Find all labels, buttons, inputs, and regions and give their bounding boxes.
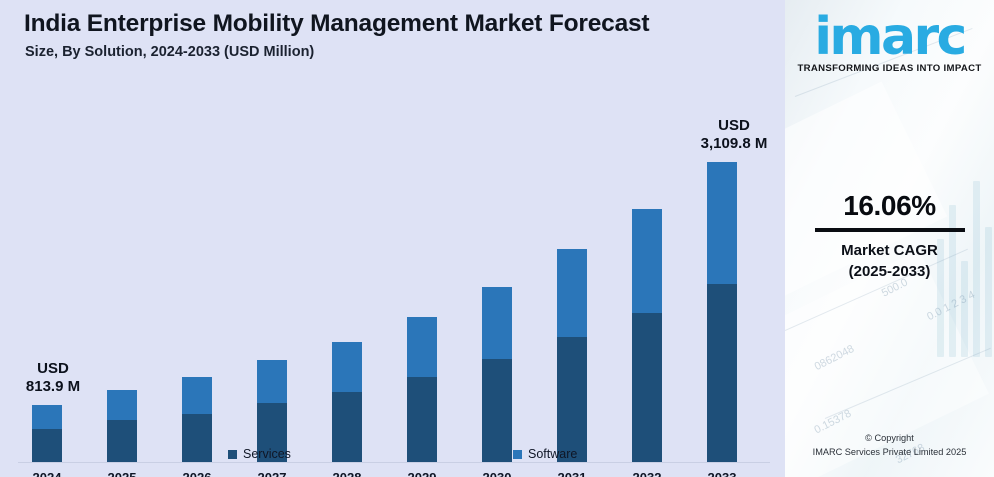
bar-segment-services-2033[interactable] (707, 284, 737, 462)
x-label-2032: 2032 (618, 470, 676, 477)
bar-segment-software-2030[interactable] (482, 287, 512, 359)
bar-segment-software-2029[interactable] (407, 317, 437, 377)
value-callout-first: USD 813.9 M (6, 360, 100, 395)
legend-label-software: Software (528, 447, 577, 461)
x-label-2024: 2024 (18, 470, 76, 477)
bar-segment-services-2031[interactable] (557, 337, 587, 462)
cagr-period: (2025-2033) (785, 261, 994, 282)
bar-segment-software-2032[interactable] (632, 209, 662, 313)
cagr-divider (815, 228, 965, 232)
x-label-2025: 2025 (93, 470, 151, 477)
legend-item-software[interactable]: Software (513, 447, 577, 461)
callout-last-line1: USD (684, 117, 784, 135)
bar-segment-software-2031[interactable] (557, 249, 587, 337)
plot-area: 2024202520262027202820292030203120322033… (0, 62, 785, 402)
value-callout-last: USD 3,109.8 M (684, 117, 784, 152)
brand-panel: 500.0 0.0 1 2 3 4 0862048 0.15378 32768 … (785, 0, 994, 477)
page-subtitle: Size, By Solution, 2024-2033 (USD Millio… (25, 44, 314, 60)
bar-2033[interactable] (707, 162, 737, 462)
bar-segment-software-2026[interactable] (182, 377, 212, 414)
legend-item-services[interactable]: Services (228, 447, 291, 461)
bar-segment-software-2028[interactable] (332, 342, 362, 392)
bar-2030[interactable] (482, 287, 512, 462)
bar-2029[interactable] (407, 317, 437, 462)
copyright-block: © Copyright IMARC Services Private Limit… (785, 431, 994, 460)
legend-swatch-software-icon (513, 450, 522, 459)
x-label-2033: 2033 (693, 470, 751, 477)
bar-segment-software-2033[interactable] (707, 162, 737, 284)
imarc-wordmark: imarc (814, 14, 965, 62)
callout-last-line2: 3,109.8 M (684, 135, 784, 153)
bar-segment-software-2027[interactable] (257, 360, 287, 403)
legend-label-services: Services (243, 447, 291, 461)
cagr-label: Market CAGR (785, 240, 994, 261)
chart-legend: Services Software (0, 445, 785, 469)
chart-panel: India Enterprise Mobility Management Mar… (0, 0, 785, 477)
x-label-2031: 2031 (543, 470, 601, 477)
x-label-2027: 2027 (243, 470, 301, 477)
bar-segment-software-2025[interactable] (107, 390, 137, 420)
bar-2031[interactable] (557, 249, 587, 462)
x-label-2028: 2028 (318, 470, 376, 477)
copyright-line-1: © Copyright (785, 431, 994, 445)
legend-swatch-services-icon (228, 450, 237, 459)
x-label-2026: 2026 (168, 470, 226, 477)
x-label-2029: 2029 (393, 470, 451, 477)
infographic-root: India Enterprise Mobility Management Mar… (0, 0, 994, 477)
x-label-2030: 2030 (468, 470, 526, 477)
bar-segment-services-2032[interactable] (632, 313, 662, 462)
bar-segment-software-2024[interactable] (32, 405, 62, 429)
bar-2028[interactable] (332, 342, 362, 462)
cagr-value: 16.06% (785, 190, 994, 222)
page-title: India Enterprise Mobility Management Mar… (24, 10, 649, 38)
bar-2032[interactable] (632, 209, 662, 462)
callout-first-line1: USD (6, 360, 100, 378)
imarc-logo: imarc TRANSFORMING IDEAS INTO IMPACT (785, 14, 994, 74)
callout-first-line2: 813.9 M (6, 378, 100, 396)
cagr-block: 16.06% Market CAGR (2025-2033) (785, 190, 994, 283)
copyright-line-2: IMARC Services Private Limited 2025 (785, 445, 994, 459)
